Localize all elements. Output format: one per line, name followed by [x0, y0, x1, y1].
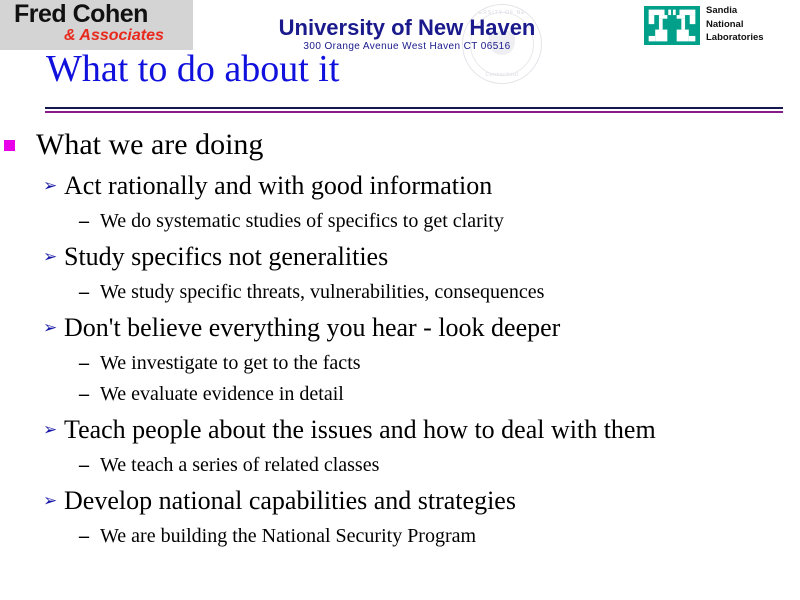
outline-item-label: We investigate to get to the facts [100, 352, 361, 374]
slide-body: What we are doing ➢ Act rationally and w… [0, 124, 800, 552]
outline-item-label: We evaluate evidence in detail [100, 383, 344, 405]
fred-cohen-associates: & Associates [64, 27, 164, 45]
arrow-bullet-icon: ➢ [43, 481, 57, 521]
outline-item-label: Teach people about the issues and how to… [64, 415, 656, 444]
outline-item: – We evaluate evidence in detail [0, 379, 800, 410]
sandia-line-1: Sandia [706, 4, 764, 18]
sandia-national-laboratories-text: Sandia National Laboratories [706, 4, 764, 45]
seal-bottom-text: Connecticut [463, 72, 541, 78]
outline-item: ➢ Don't believe everything you hear - lo… [0, 308, 800, 348]
outline-item-label: We study specific threats, vulnerabiliti… [100, 281, 544, 303]
arrow-bullet-icon: ➢ [43, 308, 57, 348]
dash-bullet-icon: – [79, 450, 89, 481]
outline-item-label: Study specifics not generalities [64, 242, 388, 271]
sandia-thunderbird-svg [644, 6, 700, 45]
title-divider [45, 107, 783, 113]
outline-item-label: We do systematic studies of specifics to… [100, 210, 504, 232]
divider-line-magenta [45, 111, 783, 113]
outline-item-label: Develop national capabilities and strate… [64, 486, 516, 515]
sandia-thunderbird-icon [642, 4, 702, 47]
outline-item: ➢ Study specifics not generalities [0, 237, 800, 277]
outline-item: – We investigate to get to the facts [0, 348, 800, 379]
outline-item-label: Don't believe everything you hear - look… [64, 313, 560, 342]
outline-item: – We study specific threats, vulnerabili… [0, 277, 800, 308]
dash-bullet-icon: – [79, 348, 89, 379]
outline-item: ➢ Act rationally and with good informati… [0, 166, 800, 206]
arrow-bullet-icon: ➢ [43, 166, 57, 206]
outline-item: ➢ Develop national capabilities and stra… [0, 481, 800, 521]
arrow-bullet-icon: ➢ [43, 410, 57, 450]
arrow-bullet-icon: ➢ [43, 237, 57, 277]
outline-item: What we are doing [0, 124, 800, 166]
outline-item-label: We teach a series of related classes [100, 454, 379, 476]
dash-bullet-icon: – [79, 206, 89, 237]
slide-title: What to do about it [46, 46, 339, 92]
dash-bullet-icon: – [79, 277, 89, 308]
sandia-line-2: National [706, 18, 764, 32]
dash-bullet-icon: – [79, 379, 89, 410]
fred-cohen-logo: Fred Cohen & Associates [0, 0, 193, 50]
outline-item-label: We are building the National Security Pr… [100, 525, 476, 547]
outline-item: – We teach a series of related classes [0, 450, 800, 481]
outline-item-label: What we are doing [36, 128, 263, 161]
fred-cohen-name: Fred Cohen [14, 1, 148, 28]
dash-bullet-icon: – [79, 521, 89, 552]
university-name: University of New Haven [262, 16, 552, 40]
outline-item: ➢ Teach people about the issues and how … [0, 410, 800, 450]
square-bullet-icon [4, 140, 15, 151]
sandia-line-3: Laboratories [706, 31, 764, 45]
outline-item: – We do systematic studies of specifics … [0, 206, 800, 237]
outline-item: – We are building the National Security … [0, 521, 800, 552]
outline-item-label: Act rationally and with good information [64, 171, 492, 200]
